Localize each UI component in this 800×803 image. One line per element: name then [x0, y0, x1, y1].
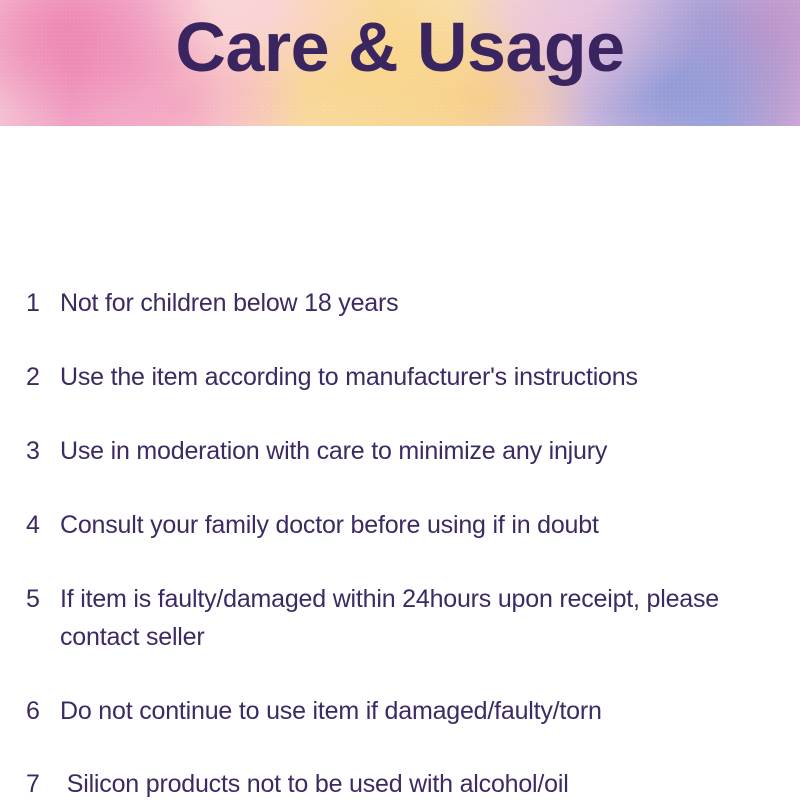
list-item: 1 Not for children below 18 years: [26, 284, 772, 322]
list-item-text: If item is faulty/damaged within 24hours…: [60, 580, 772, 656]
list-item-number: 4: [26, 506, 60, 544]
list-item-number: 5: [26, 580, 60, 618]
list-item-number: 6: [26, 692, 60, 730]
list-item-text: Consult your family doctor before using …: [60, 506, 772, 544]
care-and-usage-page: Care & Usage 1 Not for children below 18…: [0, 0, 800, 800]
list-item-number: 7: [26, 765, 60, 803]
list-item-number: 1: [26, 284, 60, 322]
list-item-text: Use in moderation with care to minimize …: [60, 432, 772, 470]
list-item: 2 Use the item according to manufacturer…: [26, 358, 772, 396]
list-item: 3 Use in moderation with care to minimiz…: [26, 432, 772, 470]
list-item-text: Not for children below 18 years: [60, 284, 772, 322]
list-item-text: Silicon products not to be used with alc…: [60, 765, 772, 803]
list-item: 4 Consult your family doctor before usin…: [26, 506, 772, 544]
watercolor-header-banner: Care & Usage: [0, 0, 800, 126]
list-item-number: 3: [26, 432, 60, 470]
list-item: 5 If item is faulty/damaged within 24hou…: [26, 580, 772, 656]
page-title: Care & Usage: [0, 12, 800, 82]
list-item-number: 2: [26, 358, 60, 396]
list-item: 6 Do not continue to use item if damaged…: [26, 692, 772, 730]
list-item: 7 Silicon products not to be used with a…: [26, 765, 772, 803]
list-item-text: Do not continue to use item if damaged/f…: [60, 692, 772, 730]
list-item-text: Use the item according to manufacturer's…: [60, 358, 772, 396]
